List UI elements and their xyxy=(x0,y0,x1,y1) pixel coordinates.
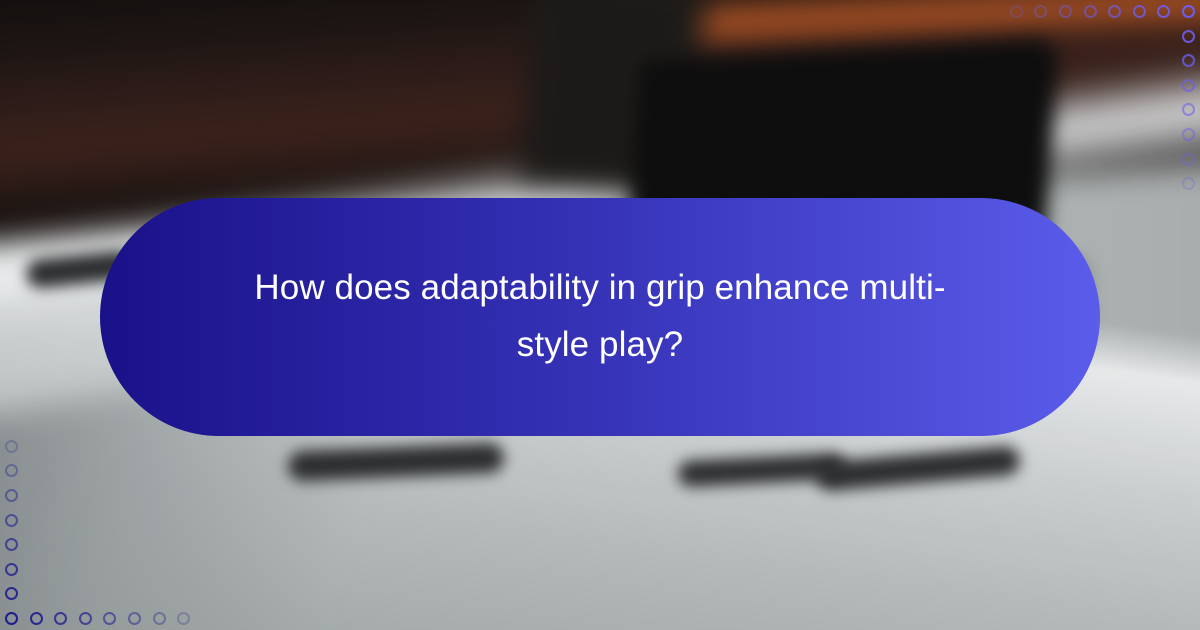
question-card: How does adaptability in grip enhance mu… xyxy=(100,198,1100,436)
social-card-canvas: How does adaptability in grip enhance mu… xyxy=(0,0,1200,630)
question-text: How does adaptability in grip enhance mu… xyxy=(250,260,950,373)
